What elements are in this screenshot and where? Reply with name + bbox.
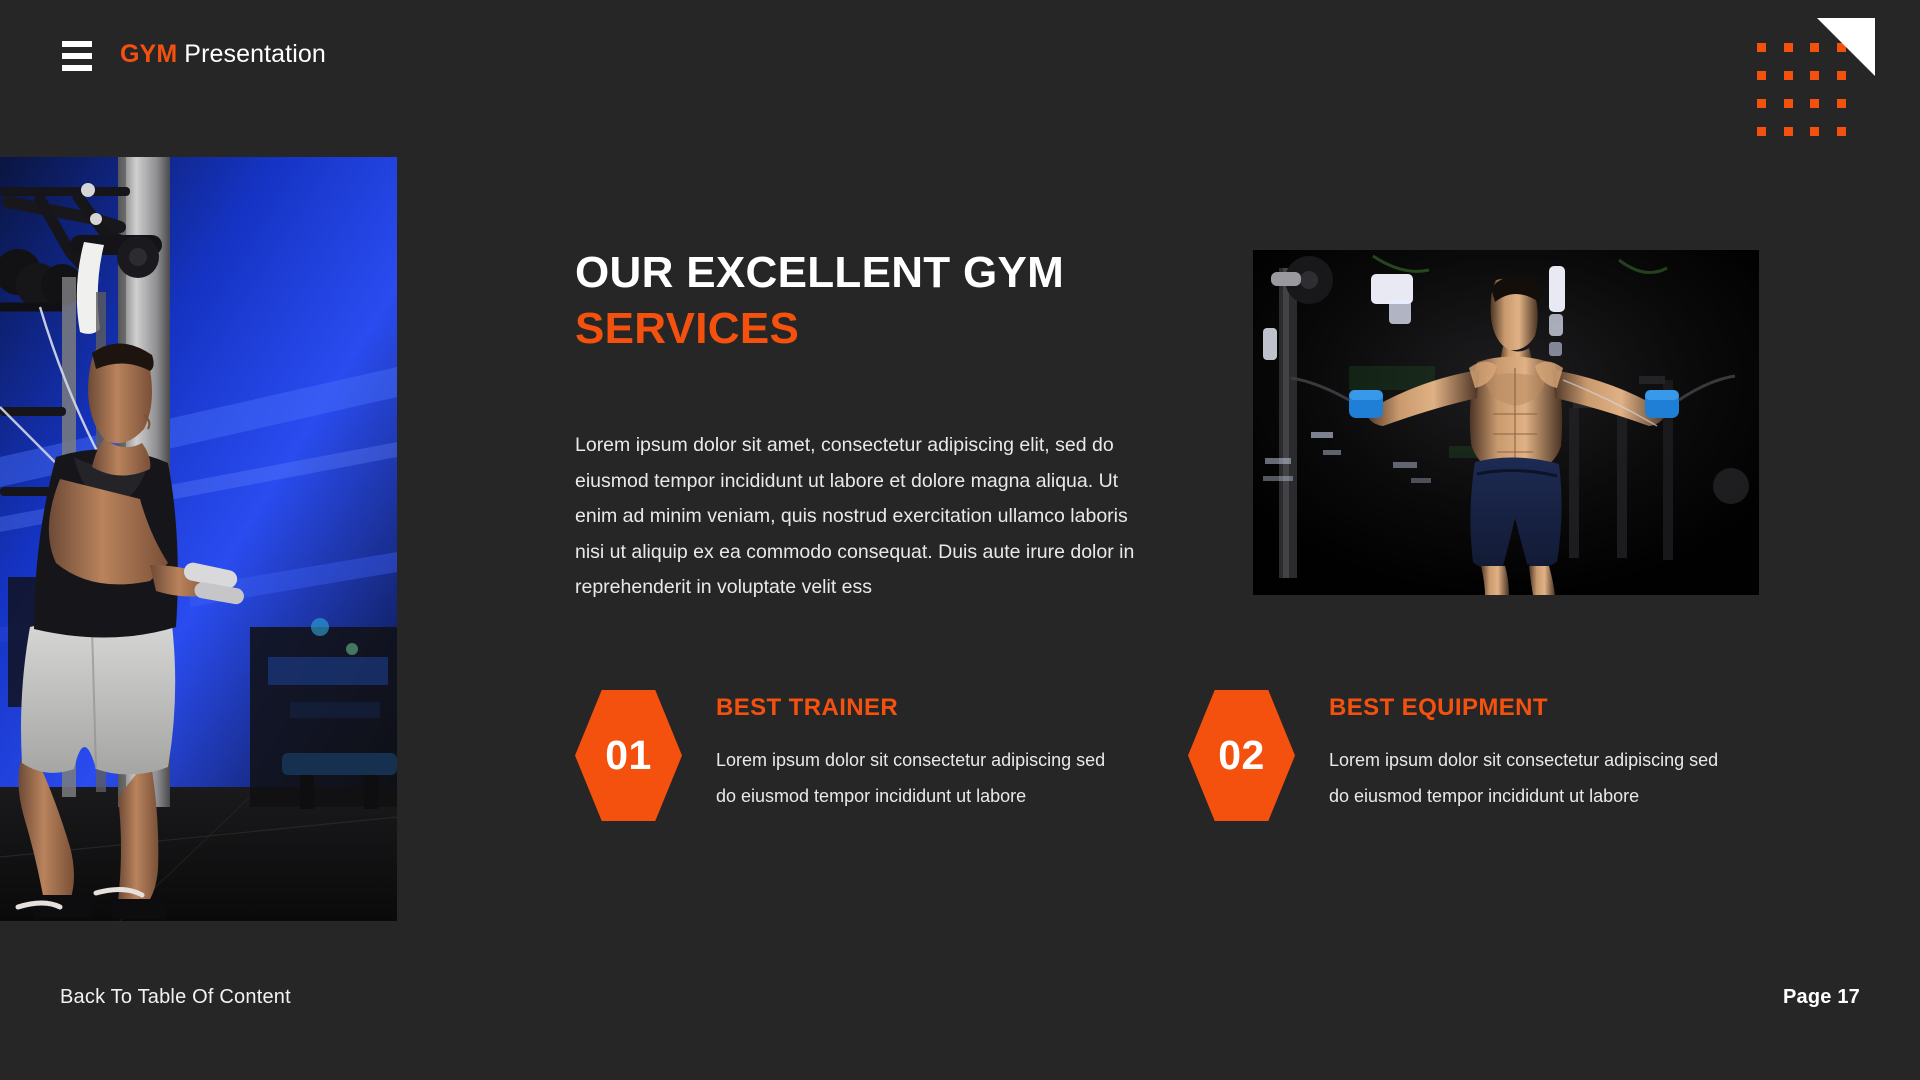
- feature-item-2: 02 BEST EQUIPMENT Lorem ipsum dolor sit …: [1188, 690, 1733, 821]
- feature-text-1: BEST TRAINER Lorem ipsum dolor sit conse…: [716, 690, 1120, 814]
- hamburger-menu-icon[interactable]: [62, 41, 92, 71]
- page-title: OUR EXCELLENT GYM SERVICES: [575, 245, 1195, 357]
- feature-item-1: 01 BEST TRAINER Lorem ipsum dolor sit co…: [575, 690, 1120, 821]
- grid-dot: [1837, 99, 1846, 108]
- headline-line-2: SERVICES: [575, 301, 1195, 357]
- left-photo-artwork: [0, 157, 397, 921]
- grid-dot: [1757, 43, 1766, 52]
- slide-footer: Back To Table Of Content Page 17: [0, 960, 1920, 1080]
- grid-dot: [1810, 99, 1819, 108]
- hexagon-badge-1: 01: [575, 690, 682, 821]
- grid-dot: [1784, 71, 1793, 80]
- feature-text-2: BEST EQUIPMENT Lorem ipsum dolor sit con…: [1329, 690, 1733, 814]
- hamburger-bar-1: [62, 41, 92, 47]
- corner-triangle-icon: [1817, 18, 1875, 76]
- feature-body-2: Lorem ipsum dolor sit consectetur adipis…: [1329, 742, 1733, 814]
- hamburger-bar-2: [62, 53, 92, 59]
- grid-dot: [1757, 127, 1766, 136]
- hexagon-badge-2: 02: [1188, 690, 1295, 821]
- lead-paragraph: Lorem ipsum dolor sit amet, consectetur …: [575, 428, 1145, 606]
- feature-body-1: Lorem ipsum dolor sit consectetur adipis…: [716, 742, 1120, 814]
- feature-list: 01 BEST TRAINER Lorem ipsum dolor sit co…: [575, 690, 1760, 821]
- grid-dot: [1784, 99, 1793, 108]
- right-gym-photo: [1253, 250, 1759, 595]
- left-gym-photo: [0, 157, 397, 921]
- grid-dot: [1837, 127, 1846, 136]
- feature-number-1: 01: [605, 735, 652, 776]
- back-to-toc-link[interactable]: Back To Table Of Content: [60, 986, 291, 1009]
- feature-title-1: BEST TRAINER: [716, 694, 1120, 722]
- presentation-slide: GYM Presentation: [0, 0, 1920, 1080]
- grid-dot: [1757, 99, 1766, 108]
- grid-dot: [1757, 71, 1766, 80]
- right-photo-artwork: [1253, 250, 1759, 595]
- brand-rest-text: Presentation: [177, 40, 326, 68]
- hamburger-bar-3: [62, 65, 92, 71]
- grid-dot: [1784, 43, 1793, 52]
- page-number-label: Page 17: [1783, 986, 1860, 1009]
- brand-accent-text: GYM: [120, 40, 177, 68]
- brand-title: GYM Presentation: [120, 40, 326, 69]
- feature-title-2: BEST EQUIPMENT: [1329, 694, 1733, 722]
- feature-number-2: 02: [1218, 735, 1265, 776]
- grid-dot: [1784, 127, 1793, 136]
- grid-dot: [1810, 127, 1819, 136]
- slide-header: GYM Presentation: [0, 0, 1920, 152]
- headline-line-1: OUR EXCELLENT GYM: [575, 245, 1195, 301]
